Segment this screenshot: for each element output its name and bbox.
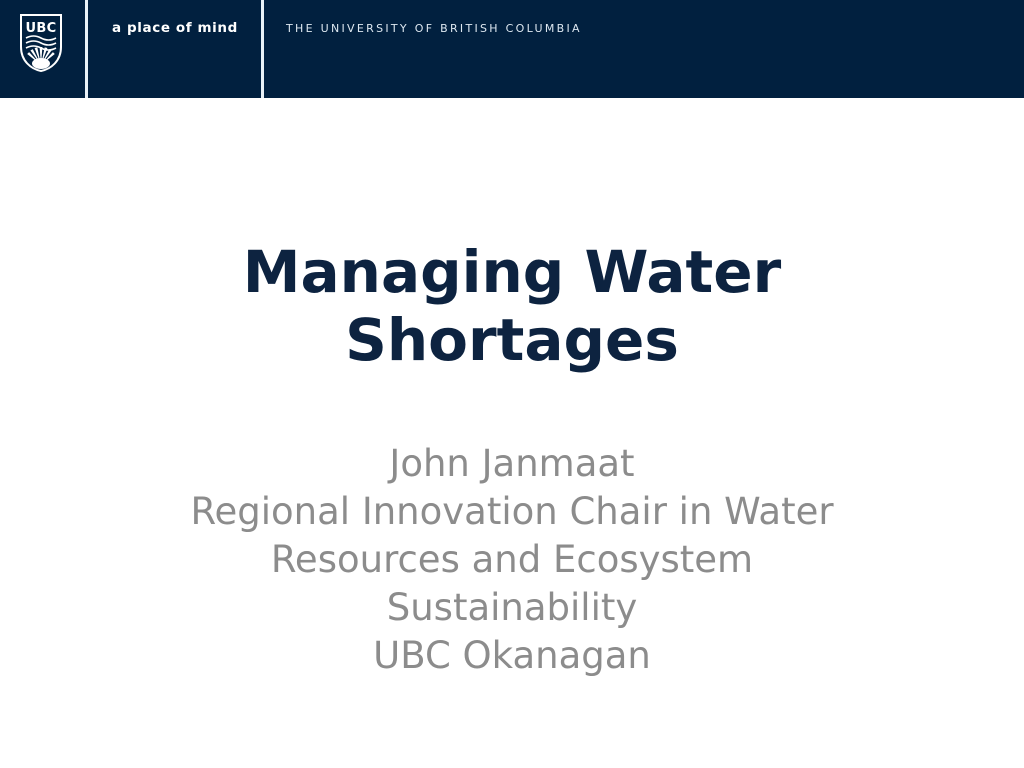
svg-text:UBC: UBC: [26, 21, 57, 36]
slide-title-line-2: Shortages: [112, 306, 912, 374]
ubc-header-banner: UBC a place of mind THE UNIVERSITY O: [0, 0, 1024, 98]
subtitle-presenter-name: John Janmaat: [112, 440, 912, 488]
presentation-slide: UBC a place of mind THE UNIVERSITY O: [0, 0, 1024, 768]
university-name: THE UNIVERSITY OF BRITISH COLUMBIA: [286, 22, 582, 35]
banner-divider-left: [85, 0, 88, 98]
slide-title: Managing Water Shortages: [112, 238, 912, 374]
subtitle-title-line-3: Sustainability: [112, 584, 912, 632]
ubc-crest-logo[interactable]: UBC: [19, 13, 63, 73]
subtitle-affiliation: UBC Okanagan: [112, 632, 912, 680]
banner-divider-right: [261, 0, 264, 98]
slide-title-line-1: Managing Water: [112, 238, 912, 306]
ubc-tagline: a place of mind: [112, 20, 238, 36]
subtitle-title-line-1: Regional Innovation Chair in Water: [112, 488, 912, 536]
slide-subtitle: John Janmaat Regional Innovation Chair i…: [112, 440, 912, 680]
subtitle-title-line-2: Resources and Ecosystem: [112, 536, 912, 584]
